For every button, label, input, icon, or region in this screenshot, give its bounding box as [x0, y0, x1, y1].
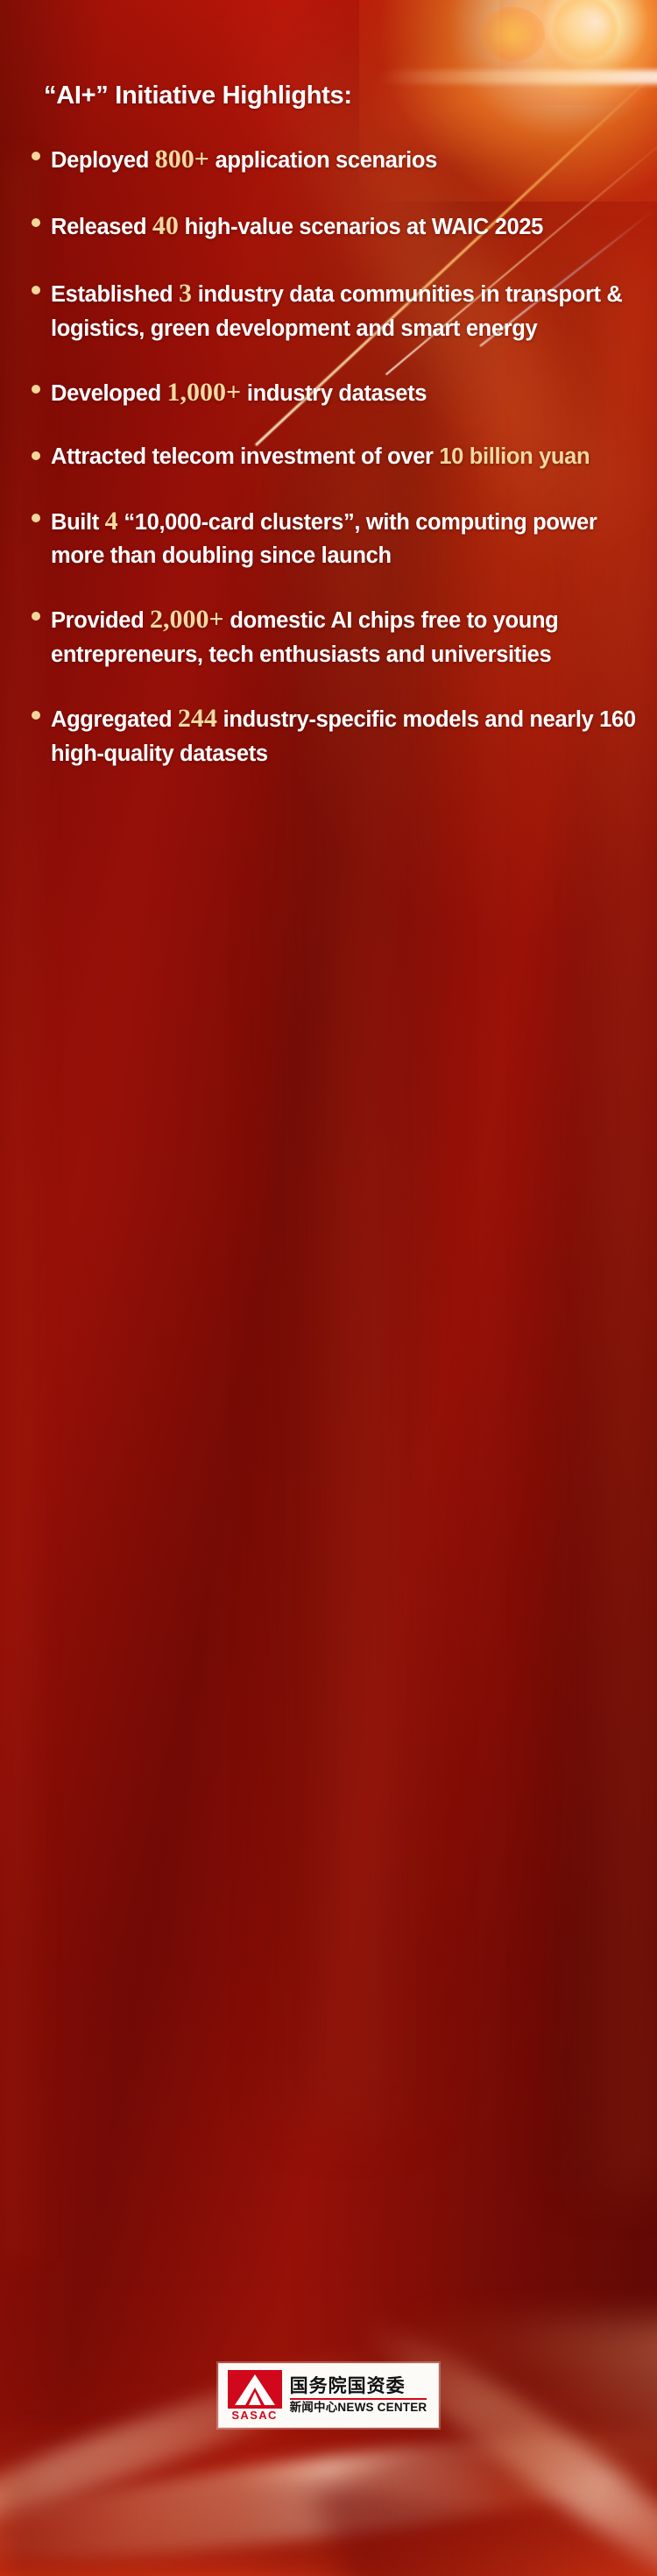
list-item-telecom-investment: Attracted telecom investment of over 10 … — [23, 441, 638, 472]
logo-subtitle: 新闻中心NEWS CENTER — [290, 2402, 427, 2414]
highlight-number: 40 — [152, 211, 179, 240]
bullet-text: Built — [51, 510, 105, 535]
triangle-mountain-icon — [228, 2370, 282, 2409]
silk-wave-highlight-3 — [350, 2303, 657, 2576]
silk-wave-highlight-1 — [0, 2410, 657, 2576]
bullet-text: Developed — [51, 381, 167, 406]
logo-chinese-name: 国务院国资委 — [290, 2377, 427, 2396]
bullet-text: Established — [51, 282, 179, 307]
poster-canvas: “AI+” Initiative Highlights: Deployed 80… — [0, 0, 657, 2576]
highlight-phrase: 10 billion yuan — [439, 444, 590, 469]
highlight-number: 4 — [105, 507, 118, 536]
highlight-number: 1,000+ — [167, 378, 242, 407]
bullet-text: Aggregated — [51, 707, 178, 732]
highlights-list: Deployed 800+ application scenariosRelea… — [23, 141, 638, 770]
highlight-number: 2,000+ — [150, 605, 224, 634]
bullet-text: Attracted telecom investment of over — [51, 444, 439, 469]
silk-dark-sweep — [127, 2459, 657, 2576]
list-item-data-communities: Established 3 industry data communities … — [23, 275, 638, 344]
page-title: “AI+” Initiative Highlights: — [44, 81, 638, 111]
list-item-deployed-scenarios: Deployed 800+ application scenarios — [23, 141, 638, 179]
bullet-text: “10,000-card clusters”, with computing p… — [51, 510, 597, 569]
highlight-number: 244 — [178, 704, 217, 733]
bullet-text: Released — [51, 215, 152, 239]
silk-fold-shadow-1 — [310, 2309, 657, 2576]
logo-text-block: 国务院国资委 新闻中心NEWS CENTER — [290, 2377, 427, 2414]
bullet-text: Provided — [51, 608, 150, 633]
list-item-domestic-ai-chips: Provided 2,000+ domestic AI chips free t… — [23, 601, 638, 671]
bullet-text: high-value scenarios at WAIC 2025 — [179, 215, 543, 239]
footer-logo-wrap: SASAC 国务院国资委 新闻中心NEWS CENTER — [0, 2363, 657, 2428]
list-item-aggregated-models: Aggregated 244 industry-specific models … — [23, 700, 638, 770]
logo-acronym: SASAC — [231, 2409, 278, 2421]
content-area: “AI+” Initiative Highlights: Deployed 80… — [0, 0, 657, 799]
list-item-card-clusters: Built 4 “10,000-card clusters”, with com… — [23, 503, 638, 572]
highlight-number: 3 — [179, 279, 192, 308]
logo-divider — [290, 2398, 427, 2400]
bullet-text: application scenarios — [209, 148, 437, 173]
list-item-industry-datasets: Developed 1,000+ industry datasets — [23, 374, 638, 412]
highlight-number: 800+ — [155, 145, 209, 174]
sasac-news-center-logo: SASAC 国务院国资委 新闻中心NEWS CENTER — [218, 2363, 440, 2428]
bullet-text: Deployed — [51, 148, 155, 173]
logo-mark: SASAC — [228, 2370, 282, 2421]
bullet-text: industry datasets — [241, 381, 427, 406]
silk-fold-shadow-2 — [0, 2445, 368, 2576]
list-item-released-waic: Released 40 high-value scenarios at WAIC… — [23, 208, 638, 245]
